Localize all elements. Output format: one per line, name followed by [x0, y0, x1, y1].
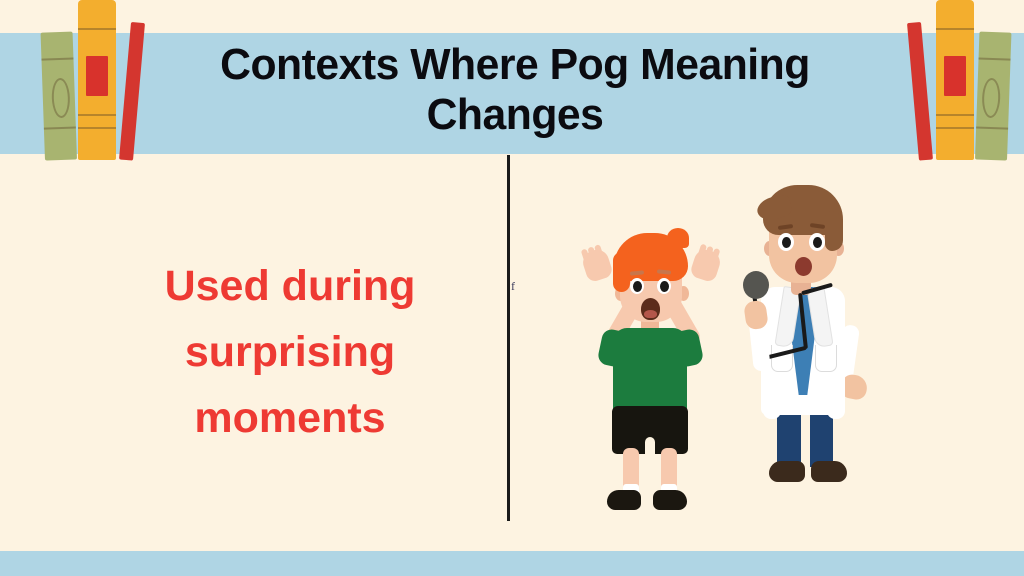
doctor-mouth-open — [795, 257, 812, 276]
doctor-coat-pocket-right — [815, 345, 837, 372]
boy-eye-left — [630, 278, 644, 294]
doctor-eye-left — [778, 233, 794, 251]
body-text-line-1: Used during — [95, 253, 485, 319]
body-text-line-3: moments — [95, 385, 485, 451]
vertical-divider — [507, 155, 510, 521]
boy-eye-right — [657, 278, 671, 294]
book-red-icon — [907, 22, 933, 161]
doctor-eye-right — [809, 233, 825, 251]
book-green-icon — [975, 32, 1011, 161]
footer-band — [0, 551, 1024, 576]
boy-hair-side — [613, 252, 630, 292]
illustration — [555, 170, 895, 485]
boy-shoe-right — [653, 490, 687, 510]
boy-shoe-left — [607, 490, 641, 510]
doctor-hair-side — [825, 211, 843, 251]
slide-canvas: Contexts Where Pog Meaning Changes f Use… — [0, 0, 1024, 576]
surprised-doctor-illustration — [725, 175, 890, 490]
book-orange-icon — [78, 0, 116, 160]
book-orange-icon — [936, 0, 974, 160]
stethoscope-chestpiece-icon — [743, 271, 769, 299]
boy-hand-right — [689, 247, 723, 284]
surprised-boy-illustration — [575, 200, 735, 490]
boy-shorts — [612, 406, 688, 454]
boy-mouth-open — [641, 298, 660, 320]
slide-title: Contexts Where Pog Meaning Changes — [132, 40, 898, 140]
boy-shirt — [613, 328, 687, 416]
book-green-icon — [41, 32, 77, 161]
doctor-shoe-left — [769, 461, 805, 482]
body-text-block: Used during surprising moments — [95, 253, 485, 451]
stray-glyph: f — [511, 280, 515, 292]
boy-hand-left — [580, 247, 614, 284]
boy-hair-tuft — [667, 228, 689, 248]
body-text-line-2: surprising — [95, 319, 485, 385]
doctor-shoe-right — [811, 461, 847, 482]
